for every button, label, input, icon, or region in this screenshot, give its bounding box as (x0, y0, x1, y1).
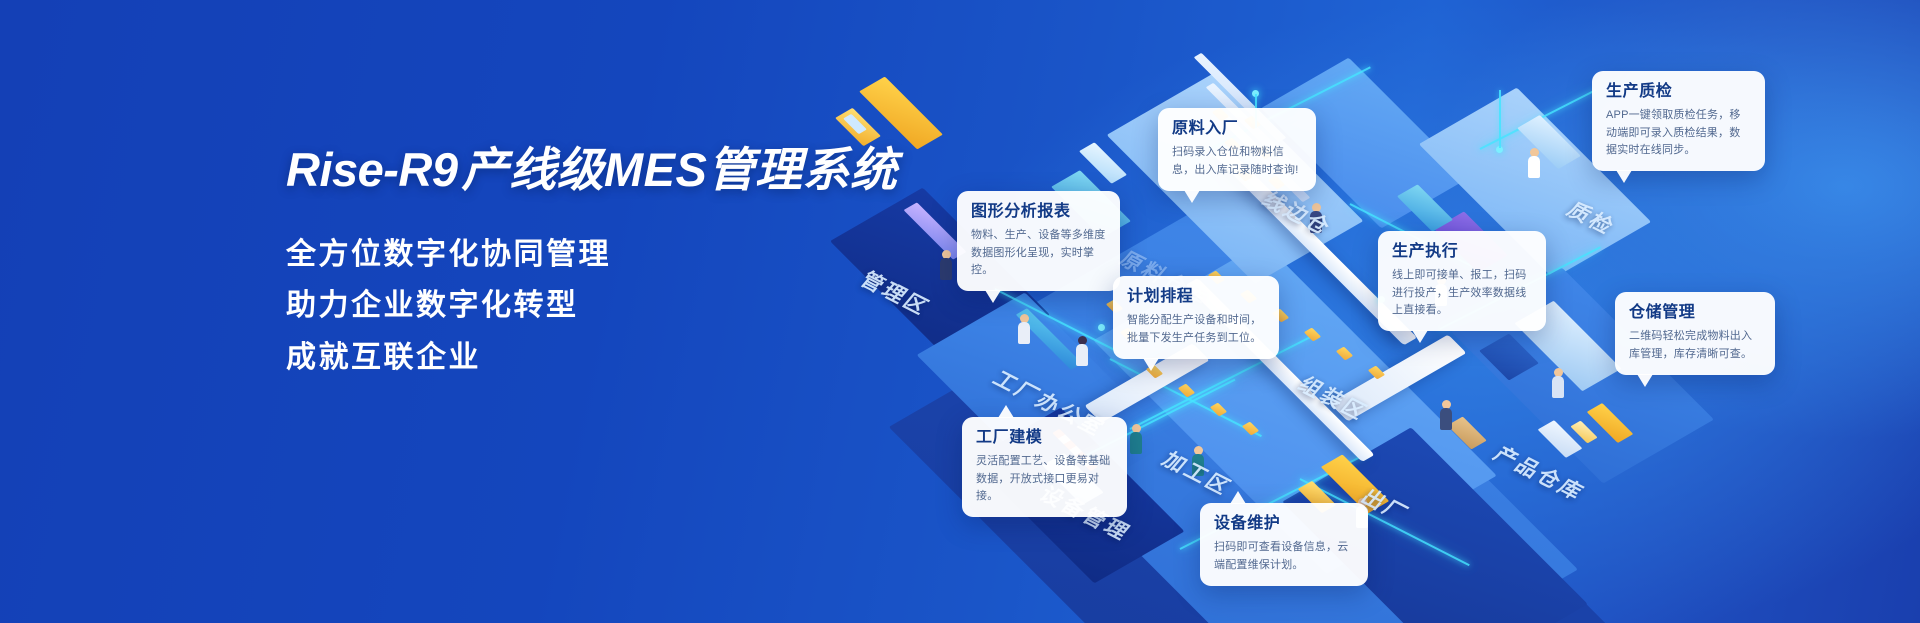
card-title: 生产质检 (1606, 82, 1751, 101)
mes-hero-banner: Rise-R9产线级MES管理系统 全方位数字化协同管理 助力企业数字化转型 成… (0, 0, 1920, 623)
card-title: 图形分析报表 (971, 202, 1106, 221)
card-pointer-icon (998, 405, 1014, 418)
card-pointer-icon (1412, 330, 1428, 343)
callout-card-production-quality-inspection[interactable]: 生产质检 APP一键领取质检任务，移动端即可录入质检结果，数据实时在线同步。 (1592, 71, 1765, 171)
card-pointer-icon (1637, 374, 1653, 387)
card-title: 工厂建模 (976, 428, 1113, 447)
callout-card-plan-scheduling[interactable]: 计划排程 智能分配生产设备和时间，批量下发生产任务到工位。 (1113, 276, 1279, 359)
card-title: 原料入厂 (1172, 119, 1302, 138)
headline-subject: 产线级MES管理系统 (462, 143, 898, 196)
callout-card-warehouse-management[interactable]: 仓储管理 二维码轻松完成物料出入库管理，库存清晰可查。 (1615, 292, 1775, 375)
card-body: 扫码即可查看设备信息，云端配置维保计划。 (1214, 539, 1354, 574)
headline-product-name: Rise-R9 (286, 143, 458, 196)
callout-card-factory-modeling[interactable]: 工厂建模 灵活配置工艺、设备等基础数据，开放式接口更易对接。 (962, 417, 1127, 517)
card-pointer-icon (985, 290, 1001, 303)
card-pointer-icon (1184, 190, 1200, 203)
callout-card-equipment-maintenance[interactable]: 设备维护 扫码即可查看设备信息，云端配置维保计划。 (1200, 503, 1368, 586)
card-body: 物料、生产、设备等多维度数据图形化呈现，实时掌控。 (971, 227, 1106, 279)
card-body: 扫码录入仓位和物料信息，出入库记录随时查询! (1172, 144, 1302, 179)
card-title: 生产执行 (1392, 242, 1532, 261)
card-title: 计划排程 (1127, 287, 1265, 306)
card-pointer-icon (1230, 491, 1246, 504)
card-title: 仓储管理 (1629, 303, 1761, 322)
card-pointer-icon (1143, 358, 1159, 371)
card-body: 二维码轻松完成物料出入库管理，库存清晰可查。 (1629, 328, 1761, 363)
card-pointer-icon (1616, 170, 1632, 183)
callout-card-graphic-analysis-report[interactable]: 图形分析报表 物料、生产、设备等多维度数据图形化呈现，实时掌控。 (957, 191, 1120, 291)
callout-card-raw-material-inbound[interactable]: 原料入厂 扫码录入仓位和物料信息，出入库记录随时查询! (1158, 108, 1316, 191)
card-body: 灵活配置工艺、设备等基础数据，开放式接口更易对接。 (976, 453, 1113, 505)
card-body: 线上即可接单、报工，扫码进行投产，生产效率数据线上直接看。 (1392, 267, 1532, 319)
card-body: 智能分配生产设备和时间，批量下发生产任务到工位。 (1127, 312, 1265, 347)
connector-dot (1098, 324, 1105, 331)
callout-card-production-execution[interactable]: 生产执行 线上即可接单、报工，扫码进行投产，生产效率数据线上直接看。 (1378, 231, 1546, 331)
connector-stem (1499, 90, 1501, 148)
card-title: 设备维护 (1214, 514, 1354, 533)
card-body: APP一键领取质检任务，移动端即可录入质检结果，数据实时在线同步。 (1606, 107, 1751, 159)
